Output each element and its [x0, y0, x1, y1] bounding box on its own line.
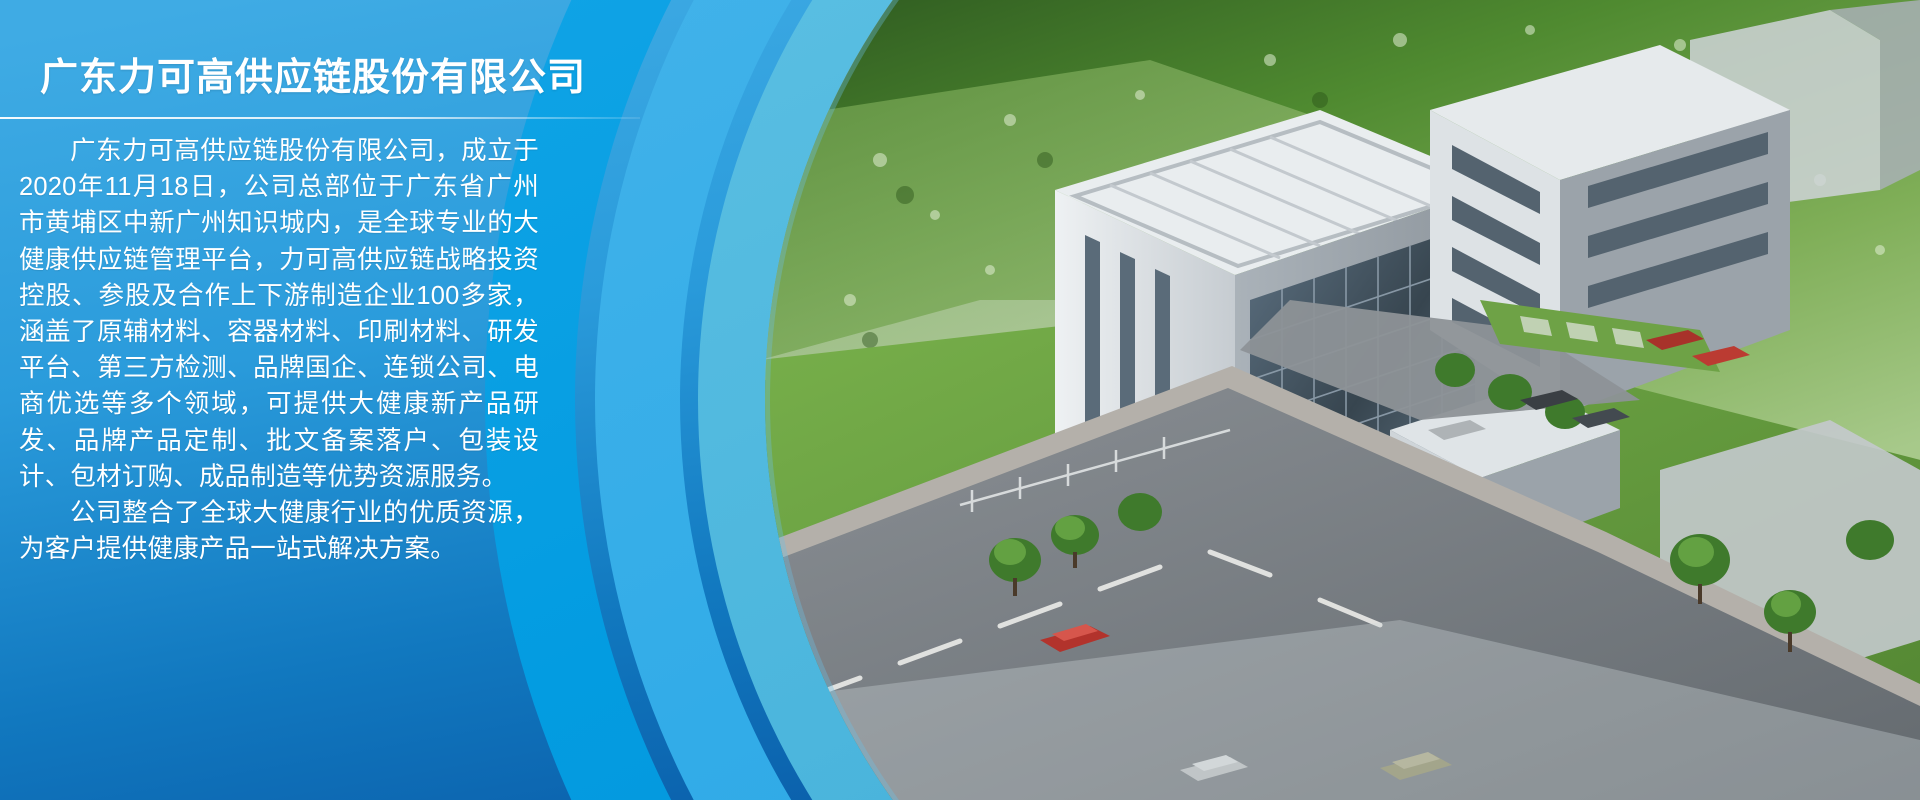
- company-profile-banner: 厂区鸟瞰效果图：绿色山体前的现代化多层厂房、停车场与道路: [0, 0, 1920, 800]
- company-description-paragraph-2: 公司整合了全球大健康行业的优质资源，为客户提供健康产品一站式解决方案。: [19, 495, 539, 567]
- company-description: 广东力可高供应链股份有限公司，成立于2020年11月18日，公司总部位于广东省广…: [19, 133, 539, 567]
- page-title: 广东力可高供应链股份有限公司: [40, 55, 586, 103]
- text-panel: 广东力可高供应链股份有限公司 广东力可高供应链股份有限公司，成立于2020年11…: [0, 0, 660, 800]
- company-description-paragraph-1: 广东力可高供应链股份有限公司，成立于2020年11月18日，公司总部位于广东省广…: [19, 133, 539, 495]
- title-divider: [0, 117, 640, 119]
